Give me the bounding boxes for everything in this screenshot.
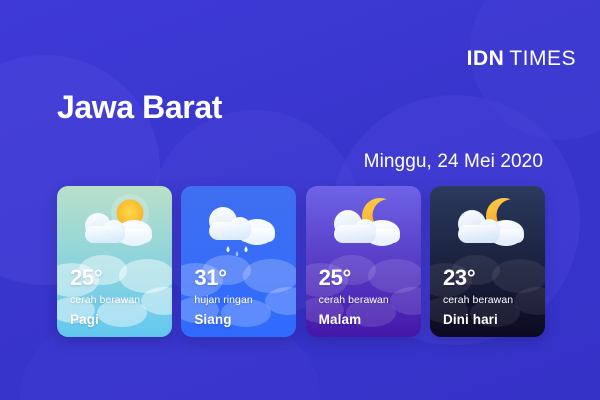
card-text-block: 25° cerah berawan Pagi [70, 267, 140, 326]
forecast-card-list: 25° cerah berawan Pagi [57, 186, 545, 337]
forecast-card[interactable]: 23° cerah berawan Dini hari [430, 186, 545, 337]
cloud-puff [514, 287, 545, 315]
condition-label: cerah berawan [443, 295, 513, 306]
temperature-value: 25° [70, 267, 140, 289]
temperature-value: 25° [319, 267, 389, 289]
weather-infographic: IDNTIMES Jawa Barat Minggu, 24 Mei 2020 [0, 0, 600, 400]
part-of-day-label: Malam [319, 313, 389, 327]
brand-logo: IDNTIMES [467, 48, 576, 69]
weather-icon-area [181, 190, 296, 260]
background-decoration-circle [470, 0, 600, 140]
forecast-card[interactable]: 25° cerah berawan Pagi [57, 186, 172, 337]
weather-icon-area [306, 190, 421, 260]
cloud-puff [390, 287, 421, 315]
cloud-puff [265, 287, 296, 315]
part-of-day-label: Dini hari [443, 313, 513, 327]
condition-label: cerah berawan [70, 295, 140, 306]
part-of-day-label: Siang [194, 313, 252, 327]
temperature-value: 31° [194, 267, 252, 289]
page-title: Jawa Barat [57, 91, 222, 123]
temperature-value: 23° [443, 267, 513, 289]
moon-behind-cloud-icon [444, 190, 532, 260]
moon-behind-cloud-icon [320, 190, 408, 260]
forecast-date: Minggu, 24 Mei 2020 [364, 152, 543, 171]
card-text-block: 25° cerah berawan Malam [319, 267, 389, 326]
rain-cloud-icon [195, 190, 283, 260]
forecast-card[interactable]: 25° cerah berawan Malam [306, 186, 421, 337]
cloud-puff [141, 287, 172, 315]
forecast-card[interactable]: 31° hujan ringan Siang [181, 186, 296, 337]
condition-label: cerah berawan [319, 295, 389, 306]
condition-label: hujan ringan [194, 295, 252, 306]
brand-logo-idn: IDN [467, 47, 505, 70]
card-text-block: 23° cerah berawan Dini hari [443, 267, 513, 326]
weather-icon-area [430, 190, 545, 260]
weather-icon-area [57, 190, 172, 260]
brand-logo-times: TIMES [509, 47, 576, 70]
sun-behind-cloud-icon [71, 190, 159, 260]
card-text-block: 31° hujan ringan Siang [194, 267, 252, 326]
part-of-day-label: Pagi [70, 313, 140, 327]
